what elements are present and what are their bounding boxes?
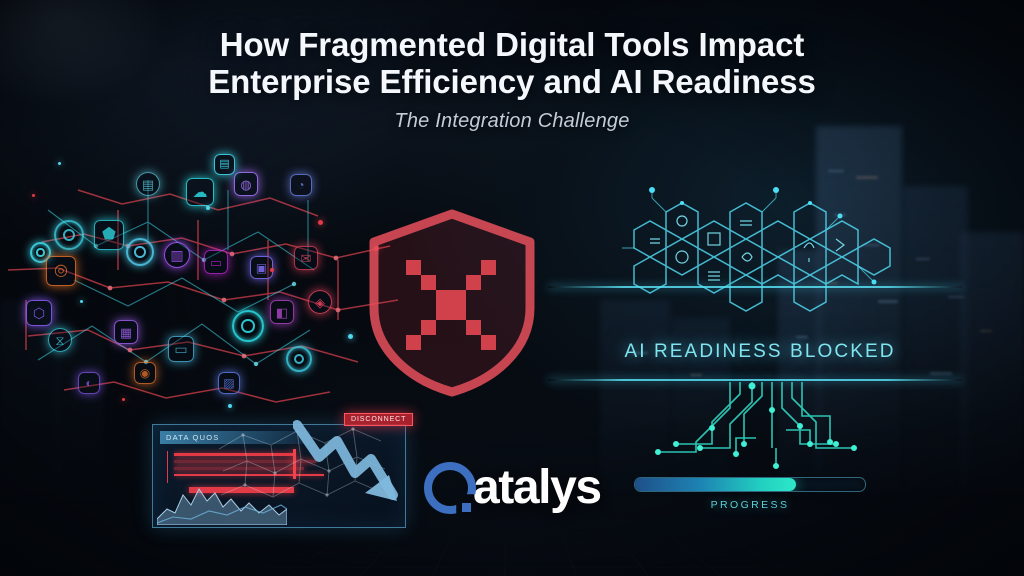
hex-divider-top: [548, 286, 962, 288]
hexagon-brain-icon: [622, 186, 892, 316]
shield-x-icon: [362, 208, 542, 398]
page-title-line-1: How Fragmented Digital Tools Impact: [0, 26, 1024, 63]
network-node-dot: [32, 194, 35, 197]
ai-readiness-status: AI READINESS BLOCKED: [560, 341, 960, 363]
server-icon: ▤: [136, 172, 160, 196]
shield-check-icon: ⬟: [94, 220, 124, 250]
title-block: How Fragmented Digital Tools Impact Ente…: [0, 26, 1024, 133]
gear-icon-1: [54, 220, 84, 250]
diamond-icon: ◈: [308, 290, 332, 314]
brand-logo[interactable]: atalys: [424, 462, 601, 514]
hero-graphic: How Fragmented Digital Tools Impact Ente…: [0, 0, 1024, 576]
page-subtitle: The Integration Challenge: [0, 110, 1024, 133]
user-icon: ◔: [290, 174, 312, 196]
lock-icon: ▣: [250, 256, 273, 279]
hex-divider-bottom: [548, 379, 962, 381]
hexagon-icon: ⬡: [26, 300, 52, 326]
gear-icon-3: [126, 238, 154, 266]
network-node-dot: [122, 398, 125, 401]
progress-indicator: PROGRESS: [634, 477, 866, 511]
cog-icon-5: [286, 346, 312, 372]
search-cloud-icon: ◍: [234, 172, 258, 196]
data-chaos-dashboard: DATA QUOS DISCONNECT: [152, 424, 406, 528]
network-node-dot: [228, 404, 232, 408]
downward-trend-arrow: [293, 419, 413, 519]
bell-icon: ◉: [134, 362, 156, 384]
gear-icon-4: [232, 310, 264, 342]
progress-label: PROGRESS: [634, 499, 866, 511]
circuit-trace-group: [640, 382, 880, 477]
database-icon: ▤: [214, 154, 235, 175]
key-icon: ◐: [78, 372, 100, 394]
cloud-icon: ☁: [186, 178, 214, 206]
network-node-dot: [348, 334, 353, 339]
network-node-dot: [80, 300, 83, 303]
performance-area-chart: [157, 479, 287, 525]
circuit-icon: [640, 382, 880, 477]
network-node-dot: [58, 162, 61, 165]
logo-wordmark: atalys: [473, 464, 601, 512]
network-node-dot: [318, 220, 323, 225]
progress-bar-track[interactable]: [634, 477, 866, 492]
ai-brain-hex-panel: [622, 186, 892, 316]
logo-q-mark: [424, 462, 476, 514]
blocked-shield-badge: [362, 208, 542, 398]
folder-icon: ▭: [204, 250, 228, 274]
network-node-dot: [206, 206, 210, 210]
progress-bar-fill: [635, 478, 796, 491]
network-node-dot: [270, 268, 274, 272]
code-icon: ▨: [218, 372, 240, 394]
target-icon: ◎: [46, 256, 76, 286]
cube-icon: ◧: [270, 300, 294, 324]
mail-icon: ✉: [294, 246, 318, 270]
page-title-line-2: Enterprise Efficiency and AI Readiness: [0, 63, 1024, 100]
dna-icon: ⧖: [48, 328, 72, 352]
monitor-icon: ▭: [168, 336, 194, 362]
grid-icon: ▦: [114, 320, 138, 344]
chart-bar-icon: ▥: [164, 242, 190, 268]
